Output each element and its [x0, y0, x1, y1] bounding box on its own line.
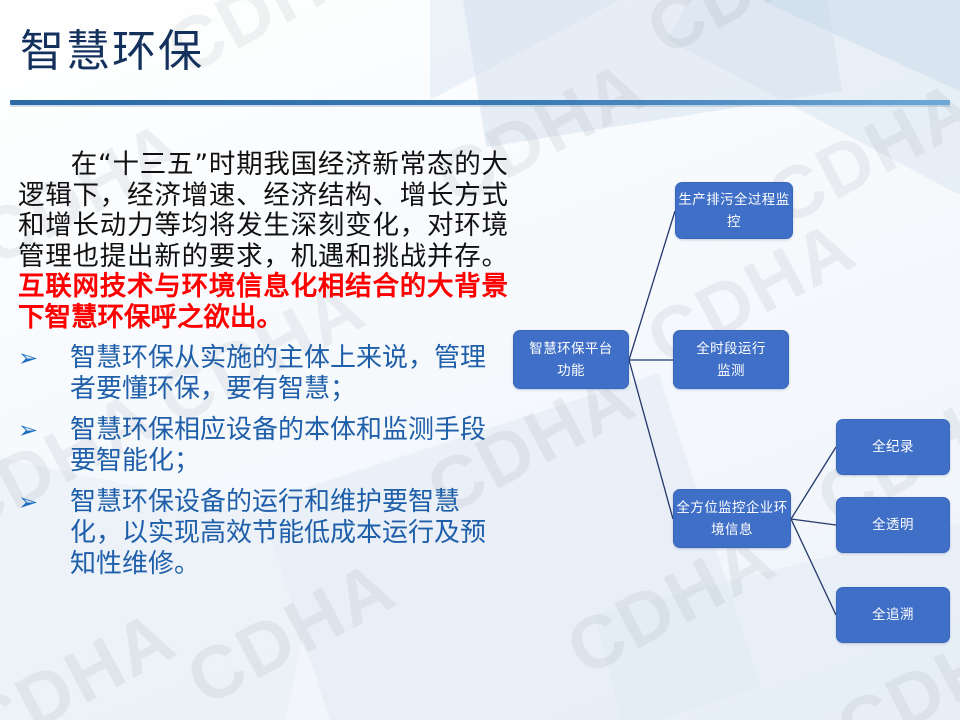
list-item-label: 智慧环保设备的运行和维护要智慧化，以实现高效节能低成本运行及预知性维修。	[70, 487, 508, 580]
diagram-node-root-line2: 功能	[557, 360, 585, 382]
diagram-node-transparent-label: 全透明	[872, 514, 914, 536]
intro-paragraph-plain: 在“十三五”时期我国经济新常态的大逻辑下，经济增速、经济结构、增长方式和增长动力…	[18, 149, 508, 272]
list-item-label: 智慧环保相应设备的本体和监测手段要智能化；	[70, 415, 508, 477]
body-text-column: 在“十三五”时期我国经济新常态的大逻辑下，经济增速、经济结构、增长方式和增长动力…	[18, 150, 508, 580]
diagram-node-production-line2: 控	[727, 211, 741, 233]
diagram-node-allmonitor[interactable]: 全方位监控企业环 境信息	[673, 489, 791, 548]
page-title: 智慧环保	[20, 26, 204, 79]
slide-canvas: CDHA CDHA CDHA CDHA CDHA CDHA CDHA CDHA …	[0, 0, 960, 720]
arrow-bullet-icon: ➢	[18, 487, 44, 518]
background-triangle-left	[430, 0, 620, 100]
arrow-bullet-icon: ➢	[18, 343, 44, 374]
title-divider-shadow	[10, 105, 950, 107]
diagram-node-record[interactable]: 全纪录	[836, 419, 950, 475]
list-item: ➢ 智慧环保相应设备的本体和监测手段要智能化；	[18, 415, 508, 477]
list-item-label: 智慧环保从实施的主体上来说，管理者要懂环保，要有智慧；	[70, 343, 508, 405]
intro-paragraph: 在“十三五”时期我国经济新常态的大逻辑下，经济增速、经济结构、增长方式和增长动力…	[18, 150, 508, 333]
intro-paragraph-highlight: 互联网技术与环境信息化相结合的大背景下智慧环保呼之欲出。	[18, 271, 508, 333]
list-item: ➢ 智慧环保从实施的主体上来说，管理者要懂环保，要有智慧；	[18, 343, 508, 405]
diagram-node-fulltime[interactable]: 全时段运行 监测	[673, 330, 789, 389]
diagram-node-traceable[interactable]: 全追溯	[836, 587, 950, 643]
diagram-node-root[interactable]: 智慧环保平台 功能	[513, 330, 629, 389]
diagram-node-transparent[interactable]: 全透明	[836, 497, 950, 553]
diagram-node-root-line1: 智慧环保平台	[529, 338, 612, 360]
background-triangle-right	[760, 0, 960, 105]
diagram-node-allmonitor-line1: 全方位监控企业环	[676, 497, 787, 519]
diagram-node-traceable-label: 全追溯	[872, 604, 914, 626]
arrow-bullet-icon: ➢	[18, 415, 44, 446]
diagram-node-allmonitor-line2: 境信息	[711, 519, 753, 541]
list-item: ➢ 智慧环保设备的运行和维护要智慧化，以实现高效节能低成本运行及预知性维修。	[18, 487, 508, 580]
diagram-node-record-label: 全纪录	[872, 436, 914, 458]
diagram-node-fulltime-line2: 监测	[717, 360, 745, 382]
diagram-node-production[interactable]: 生产排污全过程监 控	[675, 182, 793, 239]
diagram-node-fulltime-line1: 全时段运行	[696, 338, 766, 360]
diagram-node-production-line1: 生产排污全过程监	[678, 189, 789, 211]
